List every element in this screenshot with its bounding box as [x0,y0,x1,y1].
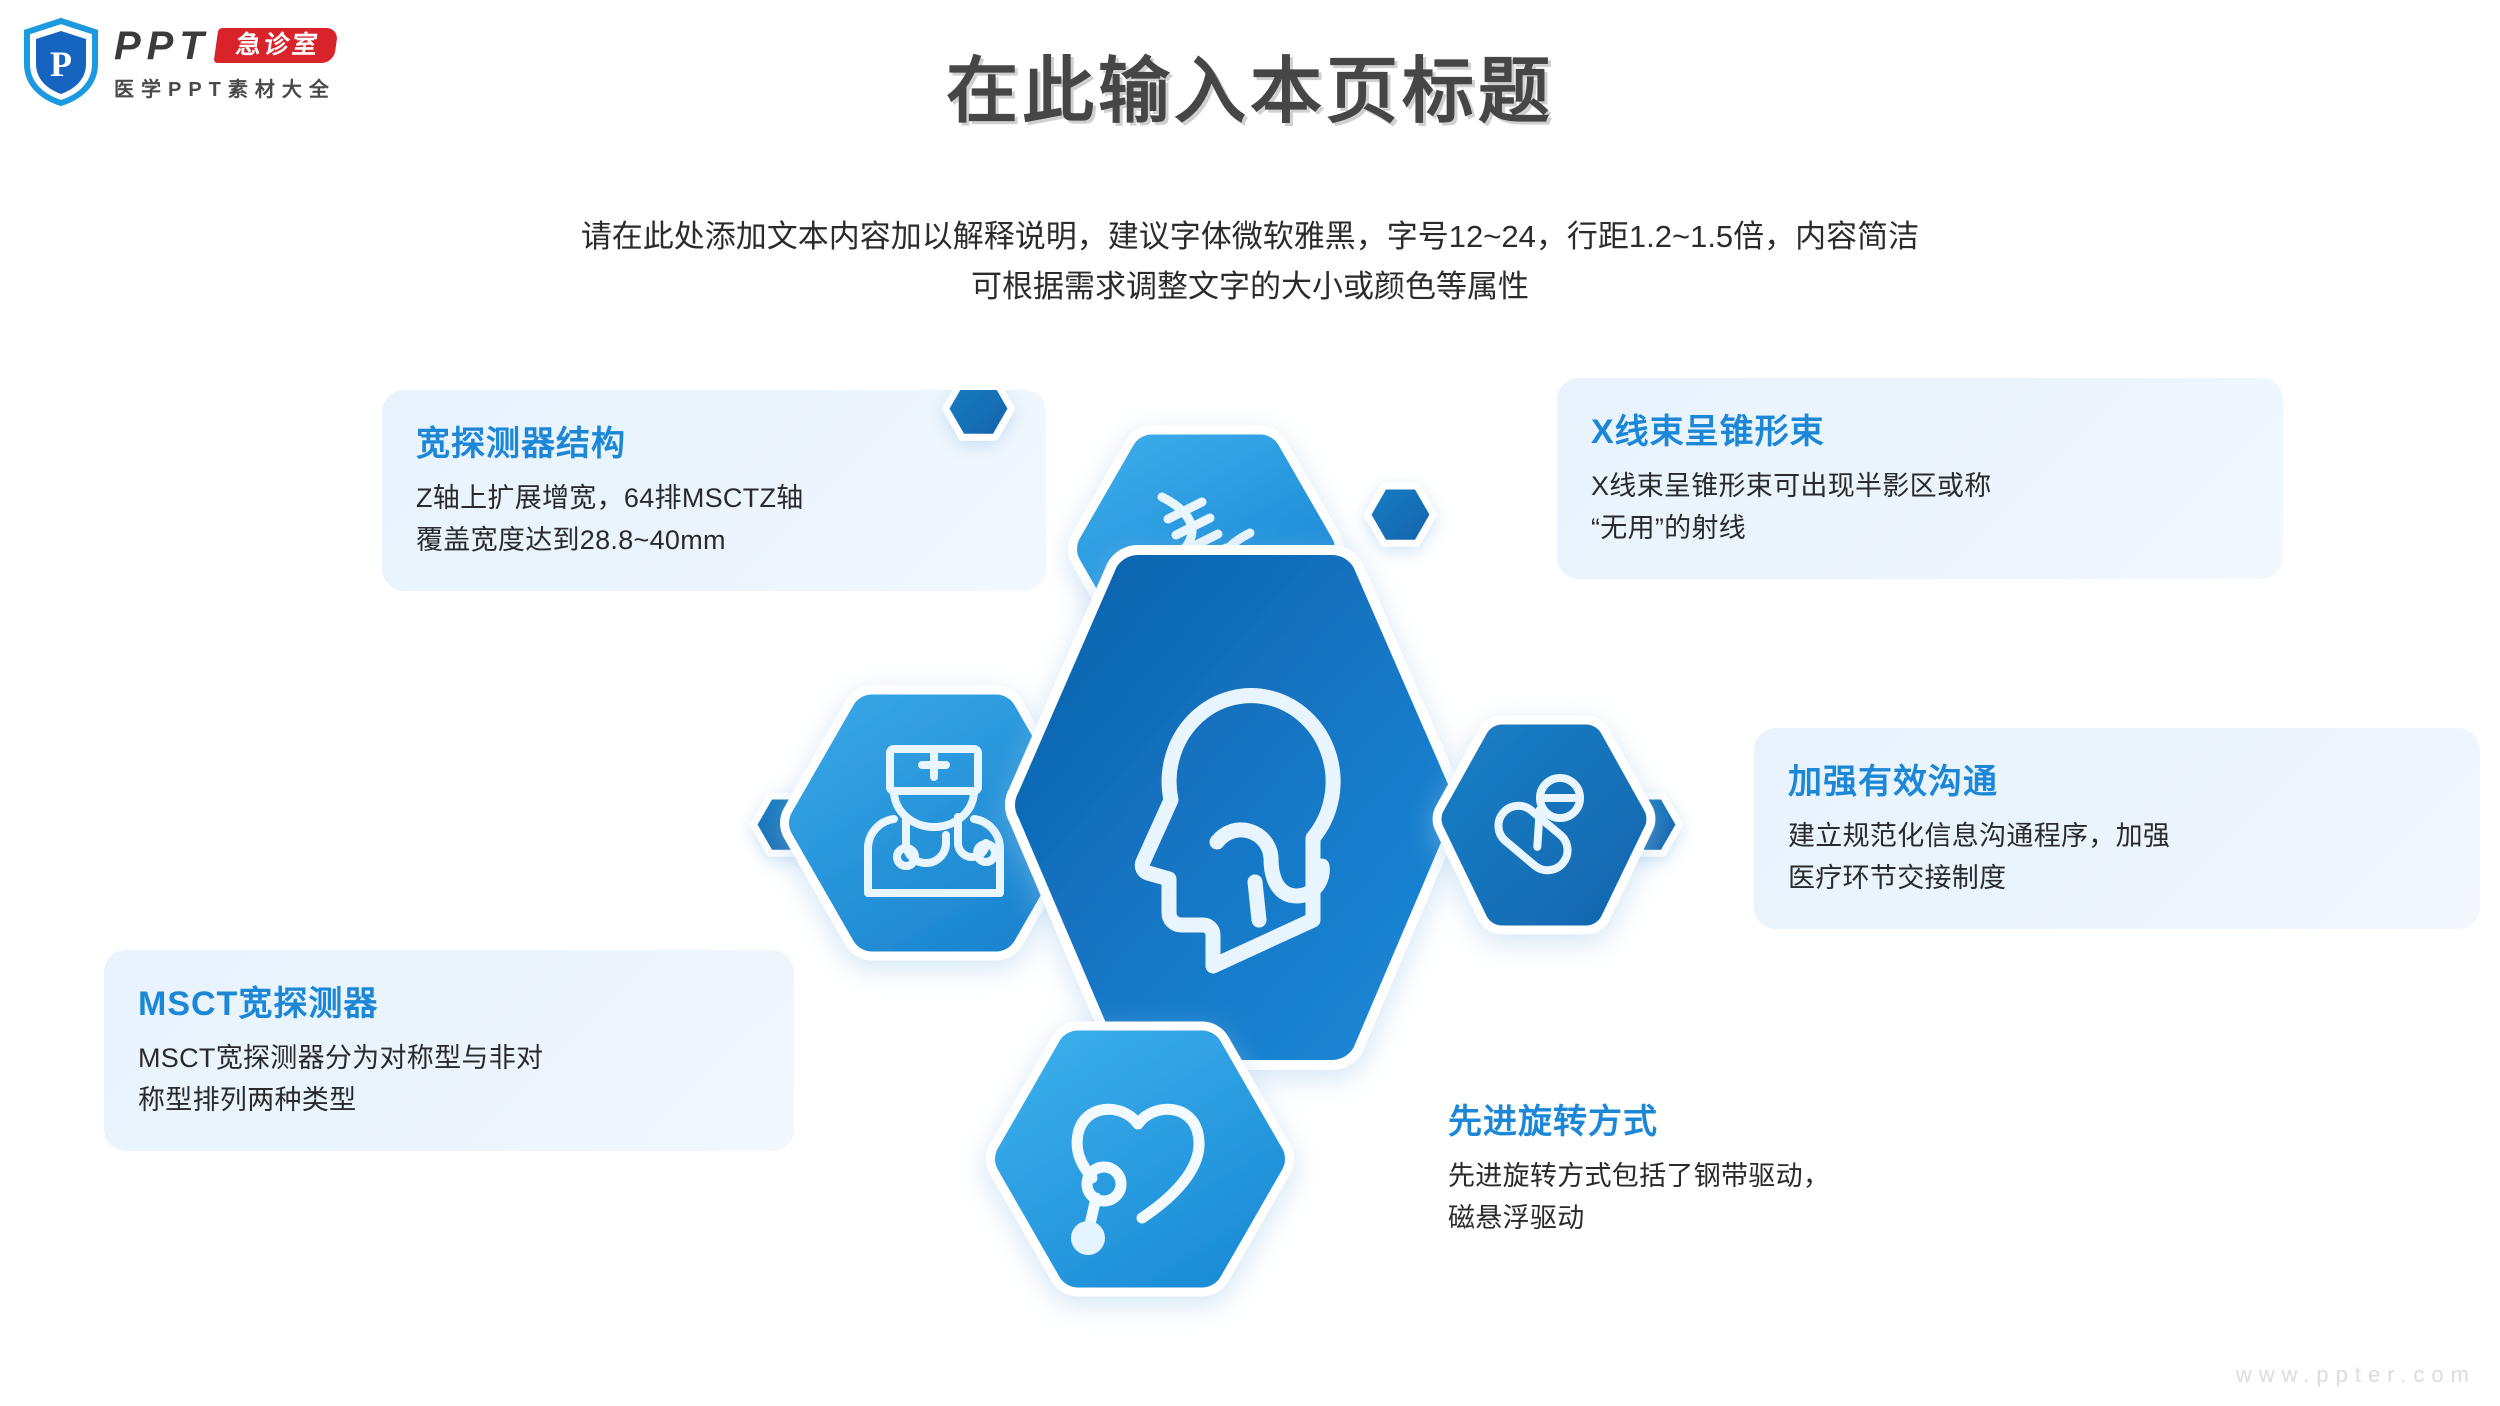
card-body: MSCT宽探测器分为对称型与非对 称型排列两种类型 [138,1037,760,1121]
card-body-line-2: 覆盖宽度达到28.8~40mm [416,525,726,555]
slide: P PPT 急诊室 医学PPT素材大全 在此输入本页标题 请在此处添加文本内容加… [0,0,2500,1406]
hexagon-center[interactable] [1010,550,1460,1065]
card-title: MSCT宽探测器 [138,976,760,1025]
card-title: 加强有效沟通 [1788,754,2446,803]
page-subtitle-line-1: 请在此处添加文本内容加以解释说明，建议字体微软雅黑，字号12~24，行距1.2~… [300,212,2200,262]
site-watermark: www.ppter.com [2236,1362,2476,1388]
card-body-line-2: 称型排列两种类型 [138,1085,356,1115]
card-body-line-1: 建立规范化信息沟通程序，加强 [1788,821,2170,851]
info-card-msct-wide-detector[interactable]: MSCT宽探测器 MSCT宽探测器分为对称型与非对 称型排列两种类型 [104,950,794,1151]
hexagon-bottom[interactable] [991,1026,1290,1292]
page-title: 在此输入本页标题 [0,32,2500,137]
page-subtitle: 请在此处添加文本内容加以解释说明，建议字体微软雅黑，字号12~24，行距1.2~… [300,212,2200,312]
card-body-line-1: MSCT宽探测器分为对称型与非对 [138,1043,543,1073]
info-card-effective-communication[interactable]: 加强有效沟通 建立规范化信息沟通程序，加强 医疗环节交接制度 [1754,728,2480,929]
connector-hex-top-right [1368,486,1434,543]
page-subtitle-line-2: 可根据需求调整文字的大小或颜色等属性 [300,262,2200,312]
hexagon-right[interactable] [1437,720,1651,930]
connector-hex-top-left [946,390,1012,437]
hexagon-diagram [740,390,1770,1380]
card-body: 建立规范化信息沟通程序，加强 医疗环节交接制度 [1788,815,2446,899]
card-body-line-2: 医疗环节交接制度 [1788,863,2006,893]
hexagon-cluster [740,390,1770,1380]
